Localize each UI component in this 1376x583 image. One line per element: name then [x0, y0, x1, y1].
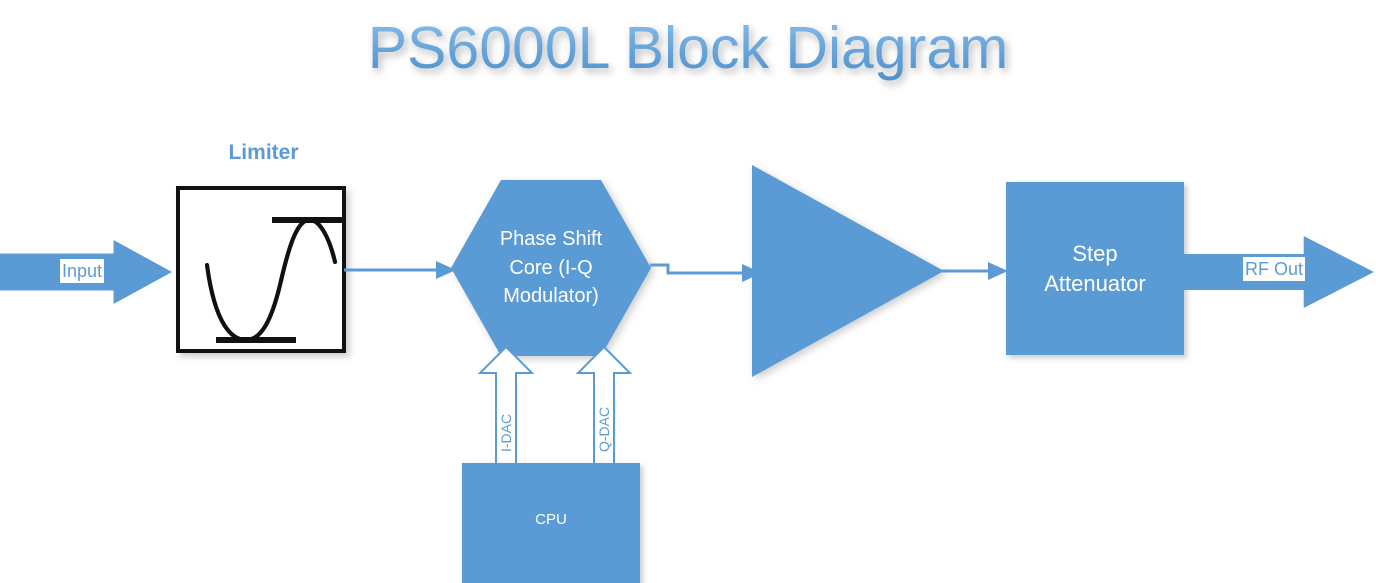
- step-attenuator-block[interactable]: Step Attenuator: [1006, 182, 1184, 355]
- rf-out-port-label: RF Out: [1243, 257, 1305, 281]
- block-diagram-canvas: PS6000L Block Diagram Input Limiter Phas…: [0, 0, 1376, 583]
- connector-amplifier-to-attenuator: [940, 256, 1008, 286]
- phase-shift-core-block[interactable]: Phase Shift Core (I-Q Modulator): [451, 180, 651, 356]
- cpu-label: CPU: [462, 511, 640, 528]
- attenuator-label-line2: Attenuator: [1044, 269, 1146, 299]
- amplifier-label: Amplifier: [760, 88, 881, 124]
- limiter-block[interactable]: [176, 186, 346, 353]
- core-label-line2: Core (I-Q: [476, 254, 626, 282]
- connector-core-to-amplifier: [650, 252, 762, 288]
- core-label-line3: Modulator): [476, 282, 626, 310]
- clipped-sine-wave-icon: [180, 190, 342, 349]
- cpu-block[interactable]: CPU: [462, 463, 640, 583]
- core-label-line1: Phase Shift: [476, 225, 626, 253]
- page-title: PS6000L Block Diagram: [0, 14, 1376, 82]
- amplifier-block[interactable]: [752, 165, 944, 377]
- attenuator-label-line1: Step: [1044, 239, 1146, 269]
- input-port-label: Input: [60, 259, 104, 283]
- q-dac-label: Q-DAC: [596, 407, 612, 452]
- connector-limiter-to-core: [344, 255, 456, 285]
- limiter-label: Limiter: [176, 141, 351, 165]
- i-dac-label: I-DAC: [498, 414, 514, 452]
